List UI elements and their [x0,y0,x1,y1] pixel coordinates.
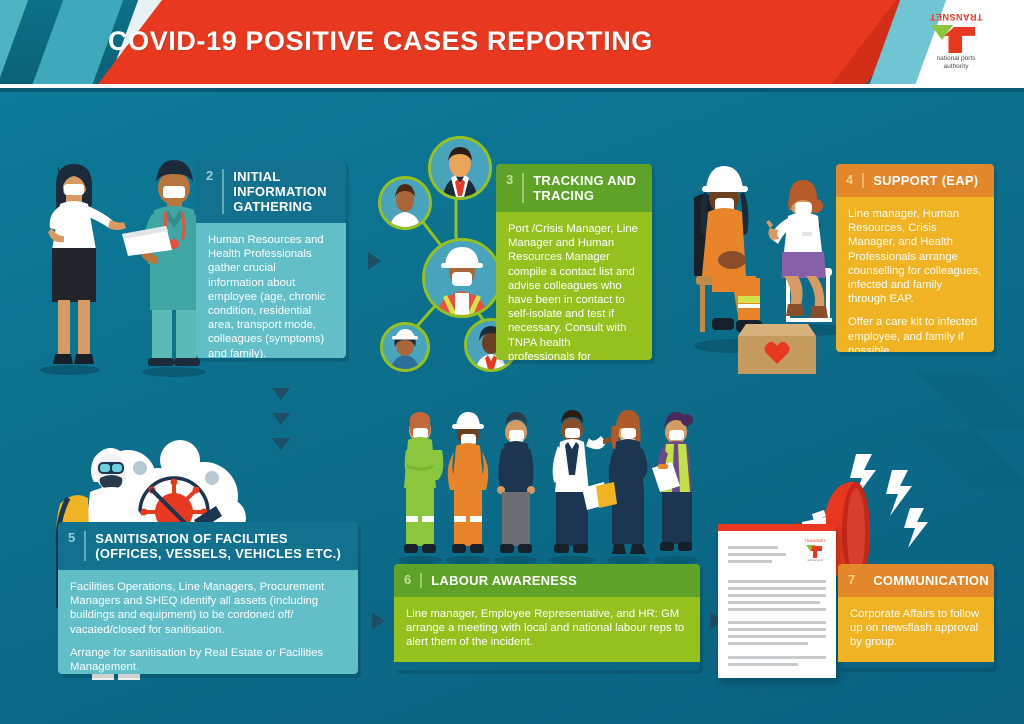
step-2-title-line3: GATHERING [233,199,327,214]
step-2-header: 2 INITIAL INFORMATION GATHERING [196,160,346,223]
worker-hi-vis-vest [652,412,698,564]
poster-header: COVID-19 POSITIVE CASES REPORTING TRANSN… [0,0,1024,92]
step-5-paragraph-1: Facilities Operations, Line Managers, Pr… [70,580,346,637]
page-title: COVID-19 POSITIVE CASES REPORTING [108,26,668,57]
step-5-title-line2: (OFFICES, VESSELS, VEHICLES ETC.) [95,546,341,561]
logo-subtitle-line2: authority [910,63,1002,71]
step-6-body: Line manager, Employee Representative, a… [394,597,700,662]
step-5-title: SANITISATION OF FACILITIES (OFFICES, VES… [95,531,341,561]
step-5-title-line1: SANITISATION OF FACILITIES [95,531,341,546]
step-divider [862,173,864,188]
logo-subtitle-line1: national ports [910,55,1002,63]
step-card-3[interactable]: 3 TRACKING AND TRACING Port /Crisis Mana… [496,164,652,360]
step-4-paragraph-2: Offer a care kit to infected employee, a… [848,315,982,352]
logo-mark-icon [931,25,981,53]
flow-arrow-right [372,612,385,630]
step-2-title-line2: INFORMATION [233,184,327,199]
step-7-body: Corporate Affairs to follow up on newsfl… [838,597,994,662]
step-3-title-line2: TRACING [533,188,636,203]
svg-text:national ports: national ports [807,558,823,562]
avatar-node-colleague-bottom-left [380,322,430,372]
logo-wordmark: TRANSNET [910,12,1002,22]
step-7-number: 7 [848,573,864,587]
document-red-header-bar [718,524,836,531]
illustration-counselling-session [676,150,856,378]
step-6-header: 6 LABOUR AWARENESS [394,564,700,597]
step-2-paragraph: Human Resources and Health Professionals… [208,233,334,358]
avatar-node-colleague-left [378,176,432,230]
step-2-title: INITIAL INFORMATION GATHERING [233,169,327,214]
step-3-header: 3 TRACKING AND TRACING [496,164,652,212]
step-4-title: SUPPORT (EAP) [873,173,978,188]
step-card-4[interactable]: 4 SUPPORT (EAP) Line manager, Human Reso… [836,164,994,352]
worker-navy-sweater [494,412,538,564]
illustration-group-of-workers [390,408,700,568]
step-5-body: Facilities Operations, Line Managers, Pr… [58,570,358,674]
avatar-node-infected-worker [422,238,502,318]
svg-text:TRANSNET: TRANSNET [804,538,826,543]
step-3-number: 3 [506,173,522,187]
step-4-header: 4 SUPPORT (EAP) [836,164,994,197]
step-7-header: 7 COMMUNICATION [838,564,994,597]
step-5-header: 5 SANITISATION OF FACILITIES (OFFICES, V… [58,522,358,570]
worker-green-overalls [398,412,443,564]
infographic-poster: COVID-19 POSITIVE CASES REPORTING TRANSN… [0,0,1024,724]
step-2-title-line1: INITIAL [233,169,327,184]
worker-businesswoman [596,410,650,564]
step-card-6[interactable]: 6 LABOUR AWARENESS Line manager, Employe… [394,564,700,670]
avatar-node-manager [428,136,492,200]
flow-arrow-down [272,388,290,400]
step-5-number: 5 [68,531,84,545]
step-2-body: Human Resources and Health Professionals… [196,223,346,358]
step-4-paragraph-1: Line manager, Human Resources, Crisis Ma… [848,207,982,306]
step-4-body: Line manager, Human Resources, Crisis Ma… [836,197,994,352]
document-logo-icon: TRANSNET national ports [800,536,830,562]
step-divider [84,531,86,561]
step-divider [222,169,224,214]
step-3-paragraph: Port /Crisis Manager, Line Manager and H… [508,222,640,360]
step-7-title: COMMUNICATION [873,573,989,588]
step-2-number: 2 [206,169,222,183]
step-6-title: LABOUR AWARENESS [431,573,577,588]
step-card-7[interactable]: 7 COMMUNICATION Corporate Affairs to fol… [838,564,994,668]
worker-orange-overalls-hardhat [446,412,490,564]
step-6-paragraph: Line manager, Employee Representative, a… [406,607,688,650]
step-3-body: Port /Crisis Manager, Line Manager and H… [496,212,652,360]
step-5-paragraph-2: Arrange for sanitisation by Real Estate … [70,646,346,674]
step-card-2[interactable]: 2 INITIAL INFORMATION GATHERING Human Re… [196,160,346,358]
illustration-hr-and-nurse [22,148,222,378]
step-card-5[interactable]: 5 SANITISATION OF FACILITIES (OFFICES, V… [58,522,358,674]
step-divider [522,173,524,203]
step-3-title: TRACKING AND TRACING [533,173,636,203]
illustration-contact-tracing-network [372,126,508,370]
step-6-number: 6 [404,573,420,587]
transnet-logo: TRANSNET national ports authority [910,12,1002,78]
step-4-number: 4 [846,173,862,187]
newsflash-document: TRANSNET national ports [718,524,836,678]
step-divider [420,573,422,588]
step-3-title-line1: TRACKING AND [533,173,636,188]
step-7-paragraph: Corporate Affairs to follow up on newsfl… [850,607,982,650]
